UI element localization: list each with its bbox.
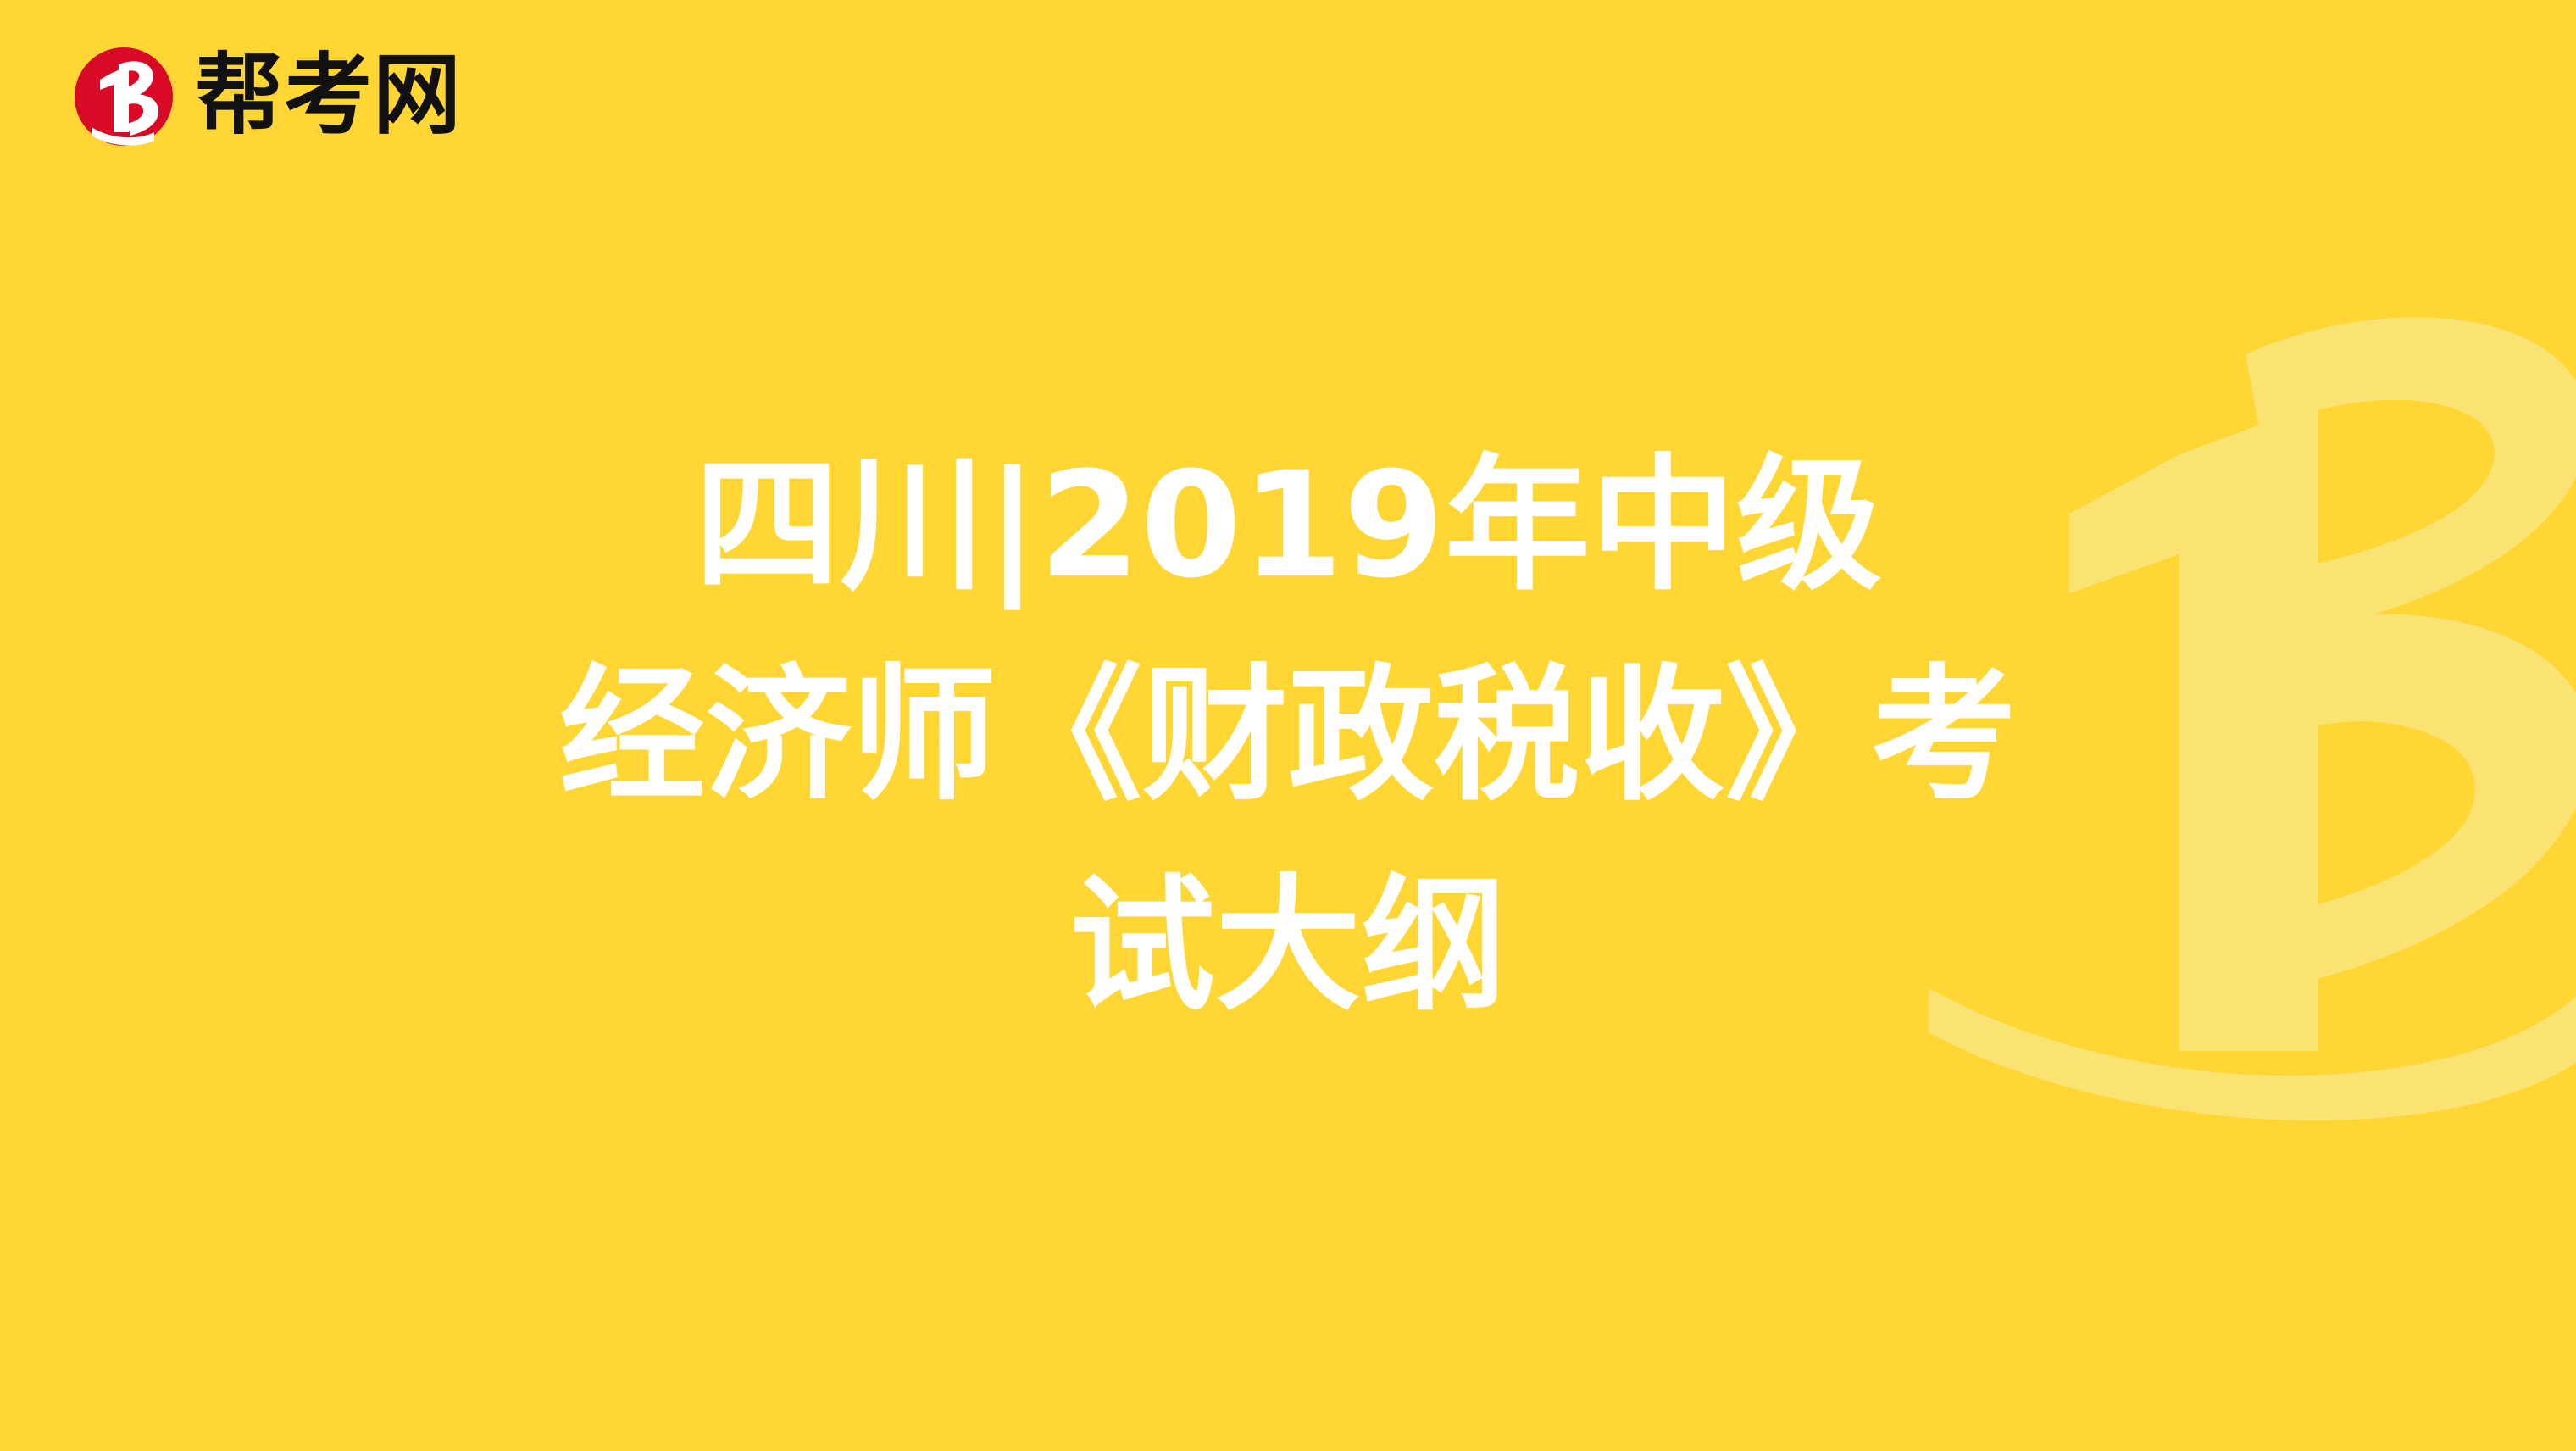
page-title: 四川|2019年中级 经济师《财政税收》考 试大纲 — [0, 420, 2576, 1051]
title-line-3: 试大纲 — [51, 841, 2525, 1051]
brand-logo[interactable]: 帮考网 — [71, 44, 462, 149]
bangkao-b-logo-icon — [71, 44, 176, 149]
title-line-1: 四川|2019年中级 — [51, 420, 2525, 631]
brand-wordmark: 帮考网 — [195, 51, 462, 139]
title-line-2: 经济师《财政税收》考 — [51, 631, 2525, 841]
poster-canvas: 帮考网 四川|2019年中级 经济师《财政税收》考 试大纲 — [0, 0, 2576, 1451]
